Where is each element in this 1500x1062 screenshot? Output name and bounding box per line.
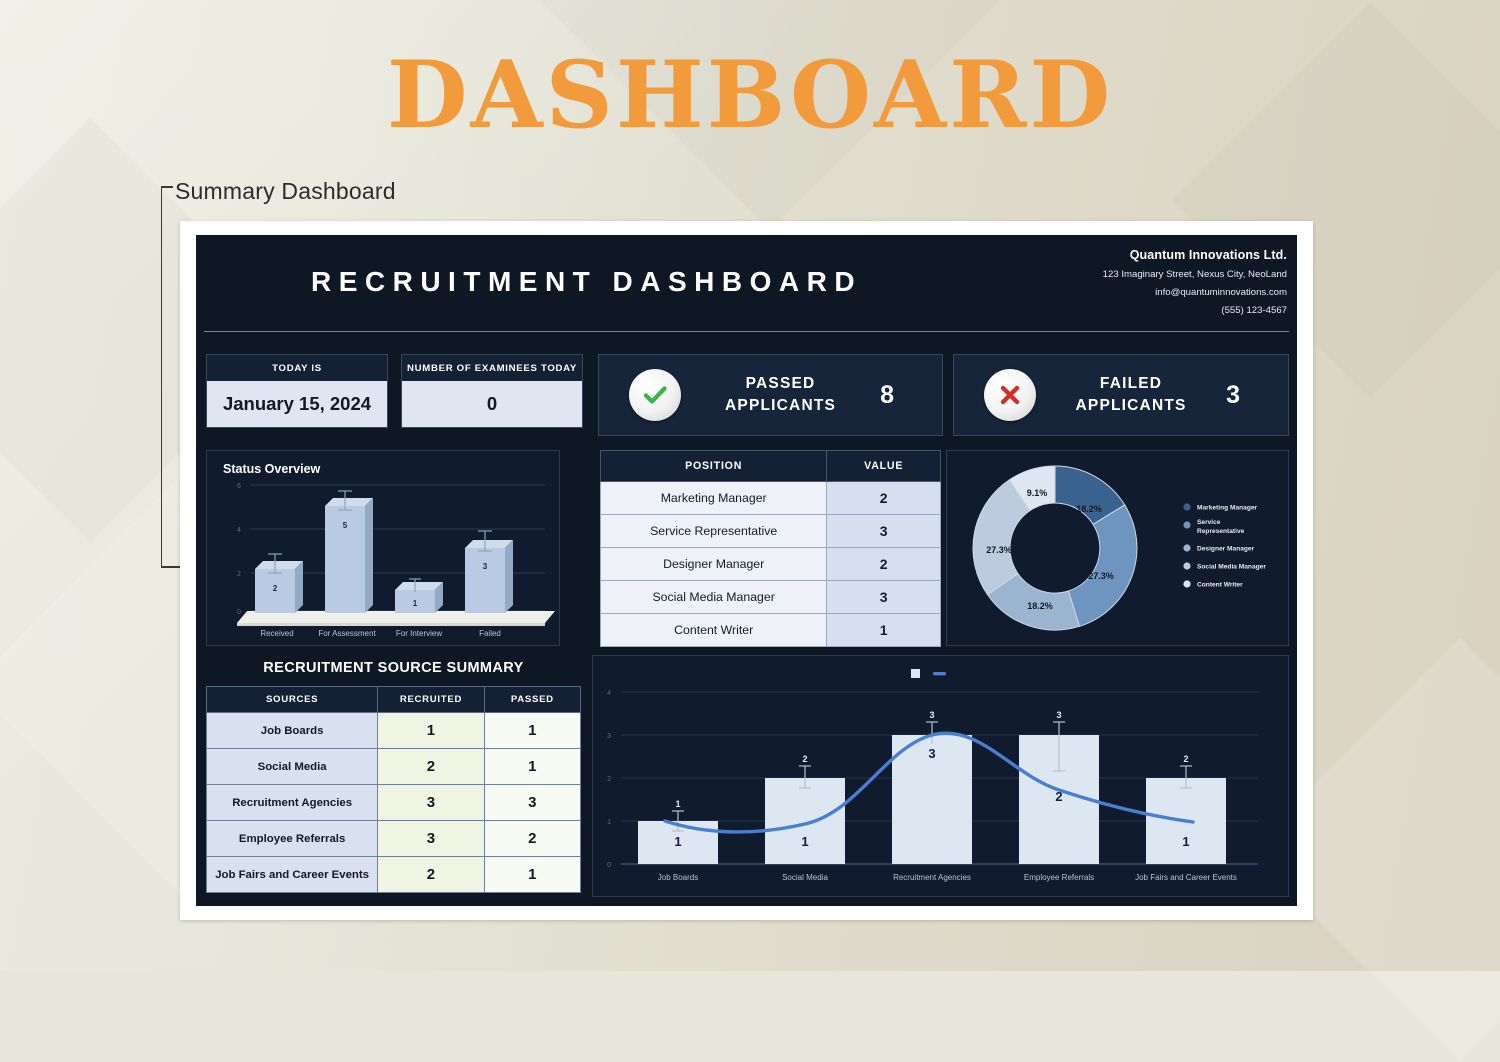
svg-text:1: 1 <box>607 819 611 826</box>
combo-xlabel-4: Job Fairs and Career Events <box>1135 873 1237 882</box>
value-cell: 3 <box>827 515 941 548</box>
donut-legend-label-0: Marketing Manager <box>1197 505 1258 512</box>
board-header: RECRUITMENT DASHBOARD Quantum Innovation… <box>196 235 1297 336</box>
x-circle-icon <box>984 369 1036 421</box>
svg-text:1: 1 <box>675 799 680 809</box>
source-cell: Job Fairs and Career Events <box>207 857 378 893</box>
stat-card-examinees-label: NUMBER OF EXAMINEES TODAY <box>402 355 582 381</box>
company-phone: (555) 123-4567 <box>1103 305 1287 316</box>
section-label: Summary Dashboard <box>175 178 396 205</box>
table-row: Marketing Manager2 <box>601 482 941 515</box>
svg-text:2: 2 <box>237 571 241 578</box>
stat-card-examinees[interactable]: NUMBER OF EXAMINEES TODAY 0 <box>401 354 583 428</box>
donut-legend: Marketing Manager ServiceRepresentative … <box>1183 503 1266 588</box>
table-row: Content Writer1 <box>601 614 941 647</box>
stat-card-examinees-value: 0 <box>402 381 582 427</box>
section-bracket <box>161 186 180 568</box>
svg-text:2: 2 <box>607 776 611 783</box>
table-row: Social Media21 <box>207 749 581 785</box>
stat-card-today[interactable]: TODAY IS January 15, 2024 <box>206 354 388 428</box>
status-overview-panel: Status Overview 6 4 2 0 2 <box>206 450 560 646</box>
value-cell: 3 <box>827 581 941 614</box>
position-donut-panel: 18.2% 27.3% 18.2% 27.3% 9.1% Marketing M… <box>946 450 1289 646</box>
status-xlabel-3: Failed <box>479 629 501 638</box>
combo-legend <box>911 669 946 678</box>
passed-cell: 1 <box>484 713 580 749</box>
combo-bar-job-fairs: 2 1 <box>1146 754 1226 864</box>
svg-text:2: 2 <box>1183 754 1188 764</box>
kpi-passed-value: 8 <box>880 381 894 410</box>
donut-legend-label-1b: Representative <box>1197 528 1245 535</box>
status-xlabel-0: Received <box>260 629 293 638</box>
table-row: Job Fairs and Career Events21 <box>207 857 581 893</box>
svg-text:5: 5 <box>343 521 348 530</box>
position-donut-chart: 18.2% 27.3% 18.2% 27.3% 9.1% Marketing M… <box>947 451 1288 645</box>
svg-text:2: 2 <box>273 584 278 593</box>
position-cell: Content Writer <box>601 614 827 647</box>
combo-xlabel-3: Employee Referrals <box>1024 873 1094 882</box>
company-info: Quantum Innovations Ltd. 123 Imaginary S… <box>1103 248 1287 316</box>
kpi-passed-label-line2: APPLICANTS <box>725 397 836 414</box>
recruitment-source-summary: RECRUITMENT SOURCE SUMMARY SOURCES RECRU… <box>206 660 581 893</box>
svg-text:4: 4 <box>607 690 611 697</box>
recruitment-source-title: RECRUITMENT SOURCE SUMMARY <box>206 660 581 676</box>
kpi-failed-label-line1: FAILED <box>1100 375 1162 392</box>
recruited-cell: 3 <box>378 785 484 821</box>
combo-xlabel-2: Recruitment Agencies <box>893 873 971 882</box>
passed-col-header: PASSED <box>484 687 580 713</box>
kpi-failed-value: 3 <box>1226 381 1240 410</box>
stat-card-today-value: January 15, 2024 <box>207 381 387 427</box>
svg-text:2: 2 <box>802 754 807 764</box>
source-cell: Recruitment Agencies <box>207 785 378 821</box>
kpi-failed-label: FAILED APPLICANTS <box>1036 373 1226 418</box>
recruited-cell: 1 <box>378 713 484 749</box>
board-title: RECRUITMENT DASHBOARD <box>311 266 862 298</box>
bar-for-assessment: 5 <box>325 491 373 613</box>
svg-text:1: 1 <box>801 834 808 849</box>
status-xlabel-2: For Interview <box>396 629 442 638</box>
company-name: Quantum Innovations Ltd. <box>1103 248 1287 262</box>
source-cell: Social Media <box>207 749 378 785</box>
check-circle-icon <box>629 369 681 421</box>
svg-text:1: 1 <box>1182 834 1189 849</box>
bar-received: 2 <box>255 554 303 613</box>
kpi-failed-label-line2: APPLICANTS <box>1076 397 1187 414</box>
recruited-cell: 3 <box>378 821 484 857</box>
svg-text:6: 6 <box>237 483 241 490</box>
donut-legend-label-3: Social Media Manager <box>1197 564 1266 571</box>
donut-legend-label-1a: Service <box>1197 519 1221 526</box>
value-cell: 1 <box>827 614 941 647</box>
table-row: Employee Referrals32 <box>207 821 581 857</box>
status-xlabel-1: For Assessment <box>318 629 376 638</box>
kpi-failed-applicants[interactable]: FAILED APPLICANTS 3 <box>953 354 1289 436</box>
kpi-passed-label-line1: PASSED <box>746 375 816 392</box>
donut-slice-service-representative <box>1068 505 1137 626</box>
combo-xlabel-1: Social Media <box>782 873 828 882</box>
bar-for-interview: 1 <box>395 579 443 613</box>
recruited-cell: 2 <box>378 749 484 785</box>
company-email: info@quantuminnovations.com <box>1103 287 1287 298</box>
svg-text:3: 3 <box>607 733 611 740</box>
status-overview-chart: 6 4 2 0 2 <box>207 451 559 645</box>
svg-text:3: 3 <box>1056 710 1061 720</box>
table-row: Recruitment Agencies33 <box>207 785 581 821</box>
status-overview-title: Status Overview <box>223 462 320 476</box>
combo-bar-recruitment-agencies: 3 3 <box>892 710 972 864</box>
recruitment-dashboard-board: RECRUITMENT DASHBOARD Quantum Innovation… <box>196 235 1297 906</box>
source-combo-panel: 4 3 2 1 0 1 1 2 1 <box>592 655 1289 897</box>
donut-legend-label-2: Designer Manager <box>1197 546 1255 553</box>
passed-cell: 2 <box>484 821 580 857</box>
donut-pct-4: 9.1% <box>1027 488 1048 498</box>
source-cell: Employee Referrals <box>207 821 378 857</box>
value-cell: 2 <box>827 482 941 515</box>
svg-text:4: 4 <box>237 527 241 534</box>
table-row: Designer Manager2 <box>601 548 941 581</box>
position-table: POSITION VALUE Marketing Manager2 Servic… <box>600 450 941 647</box>
stat-card-today-label: TODAY IS <box>207 355 387 381</box>
position-table-header-row: POSITION VALUE <box>601 451 941 482</box>
position-cell: Designer Manager <box>601 548 827 581</box>
source-table-header-row: SOURCES RECRUITED PASSED <box>207 687 581 713</box>
position-cell: Service Representative <box>601 515 827 548</box>
recruited-cell: 2 <box>378 857 484 893</box>
donut-pct-3: 27.3% <box>986 545 1012 555</box>
donut-pct-0: 18.2% <box>1076 504 1102 514</box>
value-col-header: VALUE <box>827 451 941 482</box>
position-cell: Social Media Manager <box>601 581 827 614</box>
kpi-passed-applicants[interactable]: PASSED APPLICANTS 8 <box>598 354 943 436</box>
kpi-passed-label: PASSED APPLICANTS <box>681 373 880 418</box>
svg-text:0: 0 <box>237 609 241 616</box>
table-row: Service Representative3 <box>601 515 941 548</box>
combo-bar-employee-referrals: 3 2 <box>1019 710 1099 864</box>
passed-cell: 1 <box>484 749 580 785</box>
table-row: Job Boards11 <box>207 713 581 749</box>
svg-text:0: 0 <box>607 862 611 869</box>
sources-col-header: SOURCES <box>207 687 378 713</box>
header-divider <box>204 331 1289 332</box>
svg-text:3: 3 <box>928 746 935 761</box>
recruitment-source-table: SOURCES RECRUITED PASSED Job Boards11 So… <box>206 686 581 893</box>
svg-text:1: 1 <box>413 599 418 608</box>
donut-pct-2: 18.2% <box>1027 601 1053 611</box>
passed-cell: 3 <box>484 785 580 821</box>
recruited-col-header: RECRUITED <box>378 687 484 713</box>
svg-text:3: 3 <box>483 562 488 571</box>
passed-cell: 1 <box>484 857 580 893</box>
position-cell: Marketing Manager <box>601 482 827 515</box>
combo-bar-social-media: 2 1 <box>765 754 845 864</box>
bar-failed: 3 <box>465 531 513 613</box>
svg-text:3: 3 <box>929 710 934 720</box>
donut-pct-1: 27.3% <box>1088 571 1114 581</box>
svg-text:1: 1 <box>674 834 681 849</box>
source-combo-chart: 4 3 2 1 0 1 1 2 1 <box>593 656 1288 896</box>
position-col-header: POSITION <box>601 451 827 482</box>
company-address: 123 Imaginary Street, Nexus City, NeoLan… <box>1103 269 1287 280</box>
page-title: DASHBOARD <box>0 48 1500 141</box>
table-row: Social Media Manager3 <box>601 581 941 614</box>
combo-xlabel-0: Job Boards <box>658 873 698 882</box>
donut-legend-label-4: Content Writer <box>1197 582 1243 589</box>
source-cell: Job Boards <box>207 713 378 749</box>
value-cell: 2 <box>827 548 941 581</box>
